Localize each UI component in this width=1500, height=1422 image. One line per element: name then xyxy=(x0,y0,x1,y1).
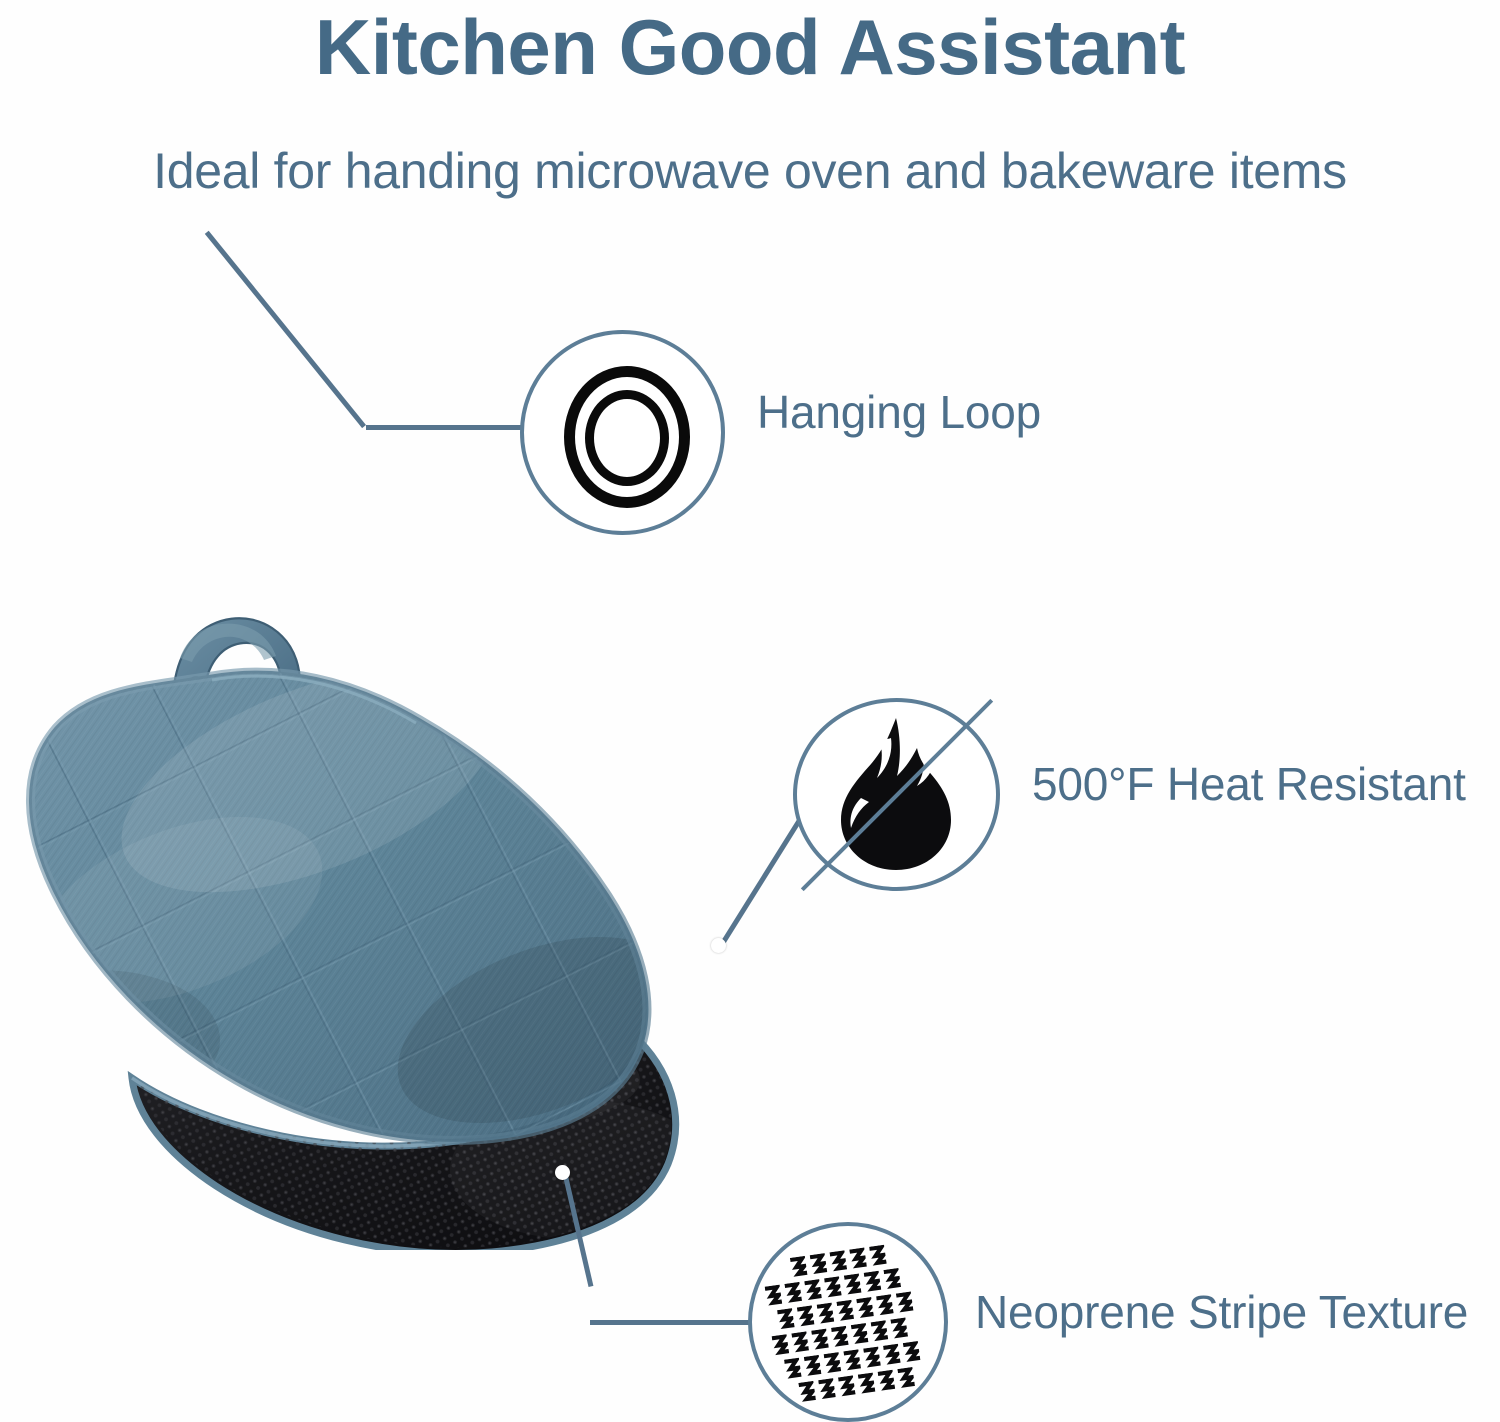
zigzag-glyph xyxy=(871,1320,889,1346)
zigzag-glyph xyxy=(784,1358,802,1384)
zigzag-glyph xyxy=(878,1370,896,1396)
callout-neoprene-texture[interactable] xyxy=(748,1222,948,1422)
zigzag-glyph xyxy=(903,1341,921,1367)
zigzag-glyph xyxy=(884,1268,902,1294)
zigzag-glyph xyxy=(863,1347,881,1373)
anchor-dot-heat-resistant xyxy=(711,938,726,953)
callout-heat-resistant[interactable] xyxy=(793,698,1000,891)
leader-segment-diagonal xyxy=(205,231,366,428)
zigzag-glyph xyxy=(831,1326,849,1352)
mitt-illustration xyxy=(0,610,770,1250)
zigzag-glyph xyxy=(824,1276,842,1302)
zigzag-glyph xyxy=(798,1381,816,1407)
callout-label-neoprene-texture: Neoprene Stripe Texture xyxy=(975,1285,1468,1339)
zigzag-glyph xyxy=(856,1297,874,1323)
zigzag-glyph xyxy=(790,1256,808,1282)
leader-segment-horizontal xyxy=(366,425,522,430)
zigzag-glyph xyxy=(804,1279,822,1305)
callout-hanging-loop[interactable] xyxy=(520,330,725,535)
zigzag-glyph xyxy=(843,1349,861,1375)
page-subtitle: Ideal for handing microwave oven and bak… xyxy=(0,142,1500,200)
zigzag-glyph xyxy=(890,1317,908,1343)
zigzag-glyph xyxy=(811,1329,829,1355)
zigzag-glyph xyxy=(851,1323,869,1349)
zigzag-glyph xyxy=(824,1352,842,1378)
zigzag-glyph xyxy=(896,1291,914,1317)
zigzag-stripe-texture-icon xyxy=(770,1241,934,1412)
zigzag-glyph xyxy=(791,1331,809,1357)
zigzag-glyph xyxy=(869,1245,887,1271)
concentric-rings-inner-icon xyxy=(585,390,669,486)
zigzag-glyph xyxy=(777,1308,795,1334)
zigzag-glyph xyxy=(810,1253,828,1279)
zigzag-glyph xyxy=(849,1248,867,1274)
leader-segment-horizontal xyxy=(590,1320,752,1325)
zigzag-glyph xyxy=(897,1367,915,1393)
zigzag-glyph xyxy=(797,1305,815,1331)
zigzag-glyph xyxy=(836,1300,854,1326)
zigzag-glyph xyxy=(818,1378,836,1404)
mitt-quilted-shell xyxy=(0,622,709,1180)
zigzag-glyph xyxy=(864,1271,882,1297)
zigzag-glyph xyxy=(804,1355,822,1381)
zigzag-glyph xyxy=(772,1334,790,1360)
zigzag-glyph xyxy=(858,1373,876,1399)
zigzag-glyph xyxy=(844,1274,862,1300)
zigzag-glyph xyxy=(883,1344,901,1370)
anchor-dot-neoprene-texture xyxy=(555,1165,570,1180)
zigzag-glyph xyxy=(838,1375,856,1401)
callout-label-heat-resistant: 500°F Heat Resistant xyxy=(1032,757,1466,811)
header-block: Kitchen Good Assistant Ideal for handing… xyxy=(0,0,1500,215)
zigzag-glyph xyxy=(765,1285,783,1311)
zigzag-glyph xyxy=(784,1282,802,1308)
zigzag-glyph xyxy=(830,1250,848,1276)
zigzag-glyph xyxy=(876,1294,894,1320)
callout-label-hanging-loop: Hanging Loop xyxy=(757,385,1041,439)
product-oven-mitt xyxy=(0,610,770,1250)
page-title: Kitchen Good Assistant xyxy=(0,2,1500,92)
zigzag-glyph xyxy=(817,1303,835,1329)
